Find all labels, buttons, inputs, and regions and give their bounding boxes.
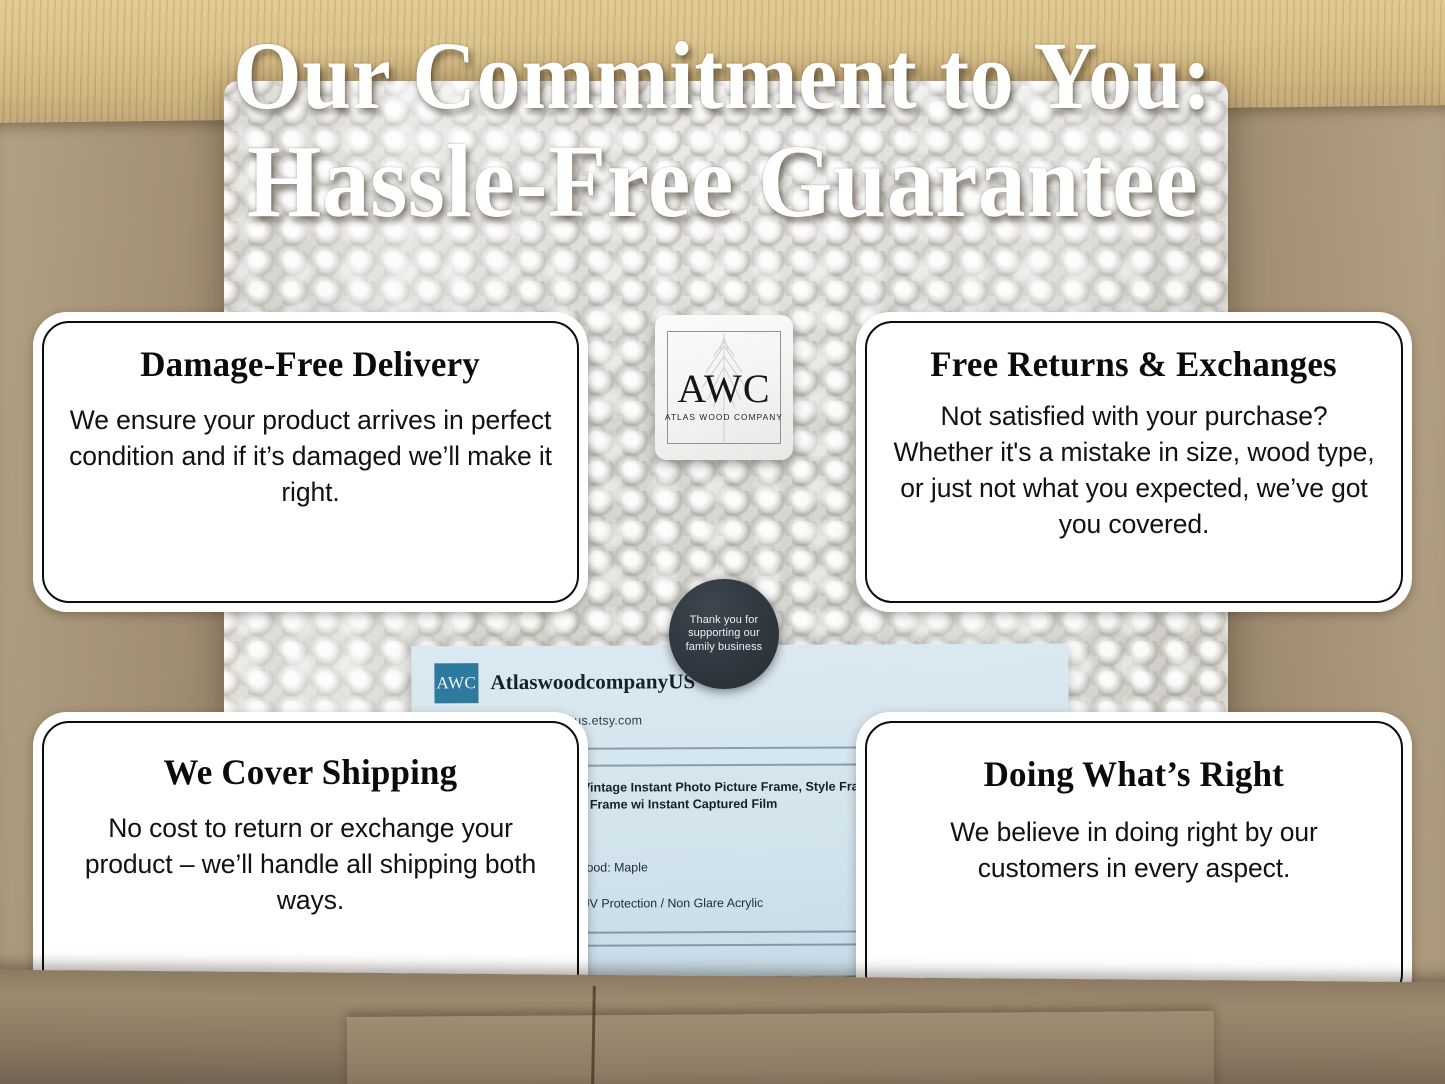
card-free-returns-exchanges: Free Returns & Exchanges Not satisfied w… (856, 312, 1412, 612)
awc-badge-icon: AWC (434, 663, 478, 703)
card-body: We ensure your product arrives in perfec… (66, 402, 555, 510)
page-title-line-1: Our Commitment to You: (58, 26, 1387, 127)
awc-monogram: AWC (655, 373, 794, 406)
card-title: Doing What’s Right (984, 755, 1284, 794)
page-title: Our Commitment to You: Hassle-Free Guara… (58, 26, 1387, 236)
card-body: We believe in doing right by our custome… (889, 814, 1379, 886)
commitment-infographic: AWC AtlaswoodcompanyUS panyus.etsy.com W… (0, 0, 1445, 1084)
card-body: Not satisfied with your purchase? Whethe… (889, 398, 1379, 542)
card-doing-whats-right: Doing What’s Right We believe in doing r… (856, 712, 1412, 1010)
box-bottom-flap-inner (347, 1011, 1215, 1084)
thank-you-sticker: Thank you for supporting our family busi… (669, 579, 779, 690)
card-we-cover-shipping: We Cover Shipping No cost to return or e… (33, 712, 588, 1010)
awc-company-name: ATLAS WOOD COMPANY (655, 412, 794, 422)
thank-you-text: Thank you for supporting our family busi… (669, 614, 779, 654)
card-body: No cost to return or exchange your produ… (66, 810, 555, 918)
card-damage-free-delivery: Damage-Free Delivery We ensure your prod… (33, 312, 588, 612)
shipping-label-header: AWC AtlaswoodcompanyUS (434, 662, 695, 703)
card-title: Free Returns & Exchanges (931, 345, 1338, 384)
awc-logo-sticker: AWC ATLAS WOOD COMPANY (655, 315, 794, 459)
shop-name: AtlaswoodcompanyUS (490, 669, 695, 695)
page-title-line-2: Hassle-Free Guarantee (58, 127, 1387, 236)
card-title: We Cover Shipping (164, 753, 458, 792)
card-title: Damage-Free Delivery (141, 345, 481, 384)
